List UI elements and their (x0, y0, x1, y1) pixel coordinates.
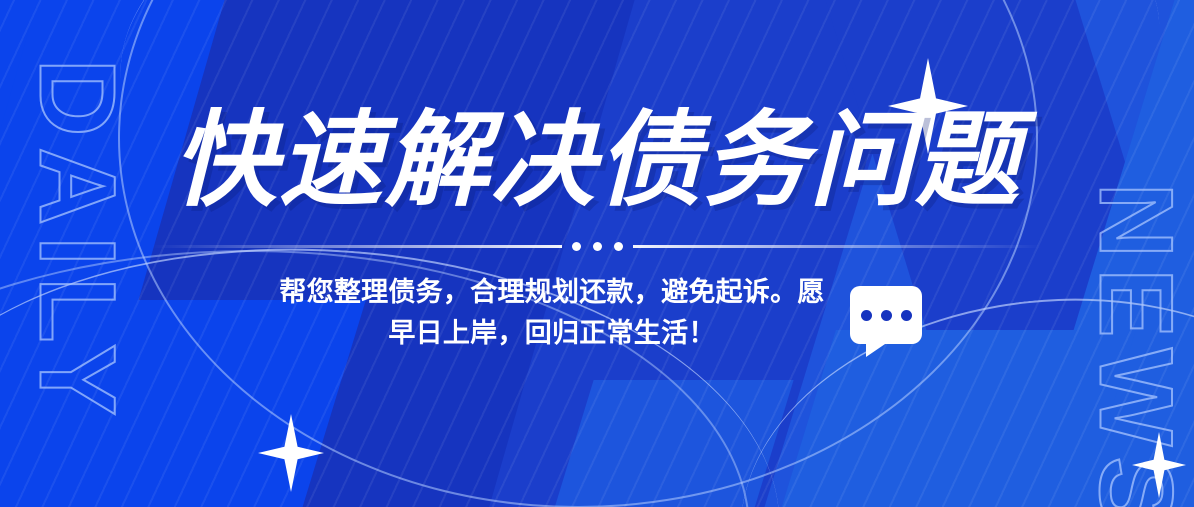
chat-bubble-dot (901, 310, 912, 321)
chat-bubble-dot (881, 310, 892, 321)
divider-dot (572, 242, 581, 251)
subtitle-row: 帮您整理债务，合理规划还款，避免起诉。愿早日上岸，回归正常生活！ (0, 272, 1194, 354)
main-title: 快速解决债务问题 (173, 108, 1022, 214)
divider-dots (572, 242, 623, 251)
divider-line-right (633, 245, 1043, 248)
divider-dot (593, 242, 602, 251)
chat-bubble-icon (850, 286, 922, 344)
divider-dot (614, 242, 623, 251)
banner-content: 快速解决债务问题 帮您整理债务，合理规划还款，避免起诉。愿早日上岸，回归正常生活… (0, 0, 1194, 507)
divider-line-left (152, 245, 562, 248)
subtitle-text: 帮您整理债务，合理规划还款，避免起诉。愿早日上岸，回归正常生活！ (272, 272, 832, 354)
news-banner: DAILY NEWS 快速解决债务问题 帮您整理债务，合理规划还款，避免起诉。愿… (0, 0, 1194, 507)
chat-bubble-dot (861, 310, 872, 321)
divider (152, 238, 1042, 254)
